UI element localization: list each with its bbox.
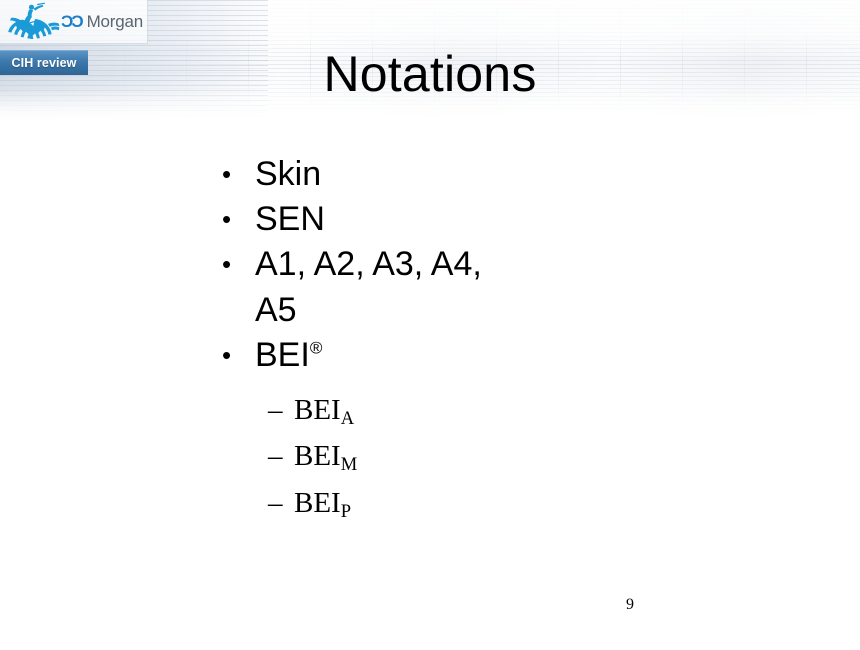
sub-subscript-text: M [341,454,358,475]
brand-cc-glyphs: CC [63,12,84,32]
list-item-label: Skin [255,152,523,197]
bei-base-text: BEI [255,336,310,374]
bullet-marker-icon: • [222,333,255,378]
list-item: • A1, A2, A3, A4, A5 [222,242,642,332]
sub-base-text: BEI [294,440,341,472]
sub-list-item-label: BEIA [294,387,642,433]
list-item: • BEI® [222,333,642,378]
registered-trademark-icon: ® [310,339,323,358]
sub-bullet-marker-icon: – [268,433,294,479]
sub-list-item-label: BEIP [294,480,642,526]
brand-morgan-text: Morgan [87,12,143,32]
page-number: 9 [626,596,634,614]
sub-base-text: BEI [294,487,341,519]
bullet-marker-icon: • [222,197,255,242]
brand-logo-plate: CC Morgan [0,0,148,44]
list-item: • SEN [222,197,642,242]
list-item-label: SEN [255,197,523,242]
brand-wordmark: CC Morgan [63,12,143,32]
bullet-marker-icon: • [222,152,255,197]
sub-list-item: – BEIM [268,433,642,479]
presentation-slide: CC Morgan CIH review Notations • Skin • … [0,0,860,650]
sub-list-item: – BEIP [268,480,642,526]
sub-subscript-text: A [341,408,355,429]
sub-bullet-marker-icon: – [268,387,294,433]
sub-list-item-label: BEIM [294,433,642,479]
list-item-label: A1, A2, A3, A4, A5 [255,242,523,332]
sub-list-item: – BEIA [268,387,642,433]
list-item: • Skin [222,152,642,197]
bullet-marker-icon: • [222,242,255,287]
list-item-label: BEI® [255,333,523,378]
sub-subscript-text: P [341,501,352,522]
sub-bullet-list: – BEIA – BEIM – BEIP [268,387,642,526]
ccmorgan-equestrian-logo-icon [4,2,62,42]
bullet-list: • Skin • SEN • A1, A2, A3, A4, A5 • BEI®… [222,152,642,526]
sub-base-text: BEI [294,394,341,426]
slide-title: Notations [0,48,860,101]
sub-bullet-marker-icon: – [268,480,294,526]
